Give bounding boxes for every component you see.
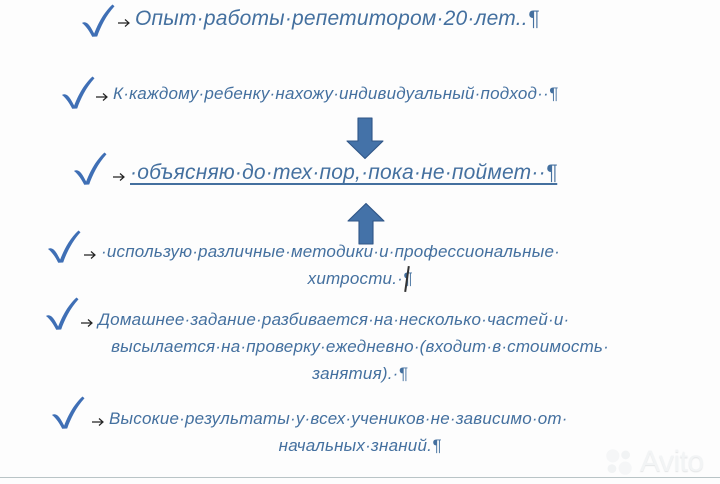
bullet-text-experience: Опыт·работы·репетитором·20·лет..¶ — [135, 8, 539, 30]
tab-arrow-mark — [118, 18, 132, 27]
bullet-text-individual-approach: К·каждому·ребенку·нахожу·индивидуальный·… — [113, 85, 558, 103]
check-mark-icon — [76, 2, 120, 46]
bullet-text-homework-line2: высылается·на·проверку·ежедневно·(входит… — [0, 338, 720, 356]
check-mark-icon — [68, 150, 112, 194]
check-mark-icon — [46, 394, 90, 438]
bullet-text-methods-line2: хитрости.·¶ — [0, 270, 720, 288]
check-mark-icon — [42, 228, 86, 272]
bullet-text-methods-line1: ·использую·различные·методики·и·професси… — [101, 243, 560, 261]
bullet-text-results-line2: начальных·знаний.¶ — [0, 437, 720, 455]
tab-arrow-mark — [113, 172, 127, 181]
check-mark-icon — [56, 74, 100, 118]
arrow-down-icon — [345, 117, 385, 160]
bullet-text-homework-line3: занятия).·¶ — [0, 365, 720, 383]
document-canvas: Опыт·работы·репетитором·20·лет..¶ К·кажд… — [0, 0, 720, 484]
arrow-up-icon — [346, 202, 386, 245]
bullet-text-explain-until-understood: ·объясняю·до·тех·пор,·пока·не·поймет··¶ — [130, 162, 557, 184]
bullet-text-results-line1: Высокие·результаты·у·всех·учеников·не·за… — [109, 410, 568, 428]
tab-arrow-mark — [81, 318, 95, 327]
bullet-text-homework-line1: Домашнее·задание·разбивается·на·нескольк… — [98, 311, 569, 329]
tab-arrow-mark — [84, 250, 98, 259]
tab-arrow-mark — [92, 417, 106, 426]
bottom-divider — [0, 477, 720, 478]
check-mark-icon — [40, 295, 84, 339]
tab-arrow-mark — [96, 92, 110, 101]
